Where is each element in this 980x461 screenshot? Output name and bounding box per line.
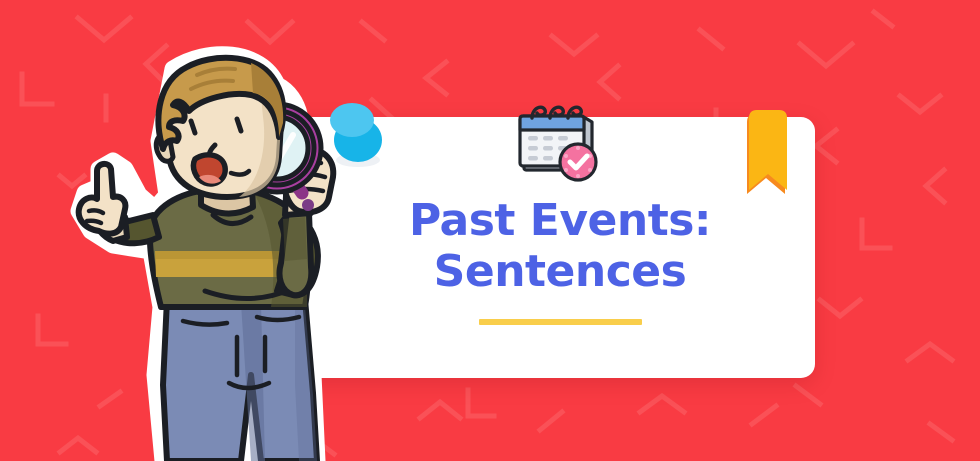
card-text-block: Past Events: Sentences (330, 195, 790, 325)
bookmark-ribbon-icon (745, 104, 787, 194)
title-underline-rule (479, 319, 642, 325)
illustration-person-pointing (55, 45, 375, 461)
page-title: Past Events: Sentences (330, 195, 790, 297)
calendar-icon (512, 100, 604, 186)
